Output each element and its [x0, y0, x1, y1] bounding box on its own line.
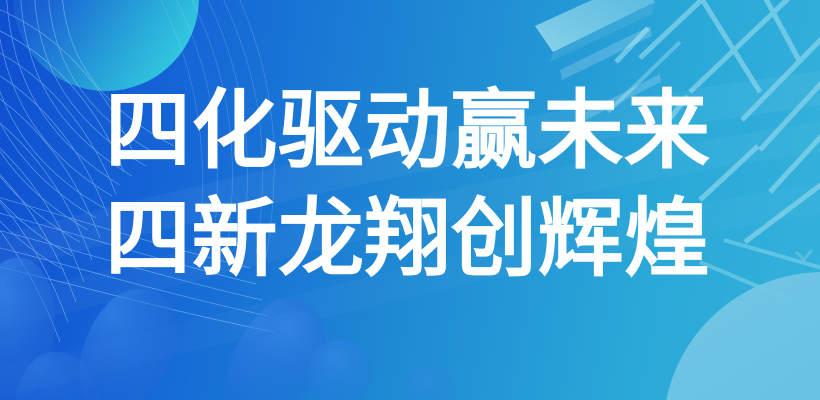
ribbon-bar-top: [535, 0, 655, 62]
headline-block: 四化驱动赢未来 四新龙翔创辉煌: [105, 76, 725, 294]
headline-line-1: 四化驱动赢未来: [105, 76, 725, 186]
headline-line-2: 四新龙翔创辉煌: [105, 184, 725, 294]
chevron-mark: [796, 250, 812, 260]
soft-circles-bottom-center: [263, 311, 456, 400]
banner-root: 四化驱动赢未来 四新龙翔创辉煌: [0, 0, 820, 400]
